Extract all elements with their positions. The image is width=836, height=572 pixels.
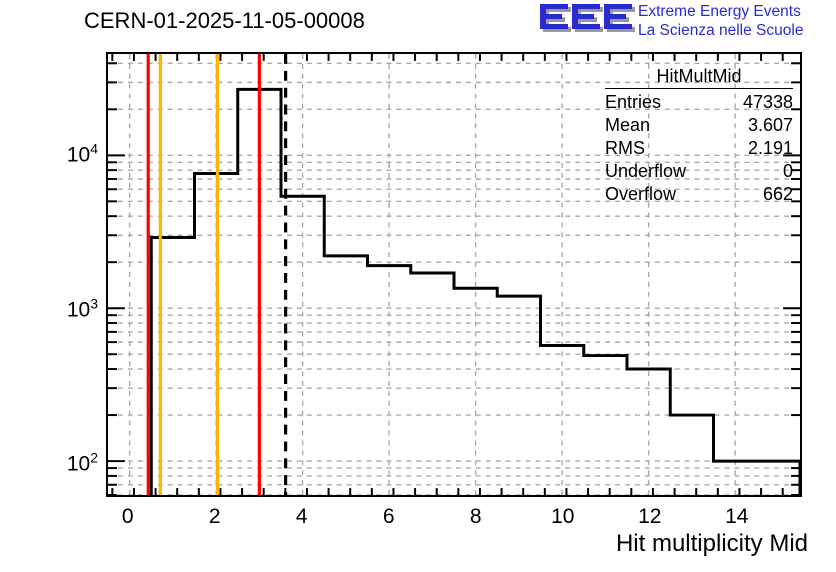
- eee-logo-line1: Extreme Energy Events: [638, 2, 834, 21]
- eee-logo-mark: [538, 3, 638, 37]
- stats-row-key: Underflow: [605, 160, 686, 183]
- stats-box: HitMultMid Entries47338Mean3.607RMS2.191…: [601, 66, 797, 206]
- eee-logo-line2: La Scienza nelle Scuole: [638, 21, 834, 40]
- stats-box-rows: Entries47338Mean3.607RMS2.191Underflow0O…: [601, 91, 797, 206]
- stats-row-value: 0: [783, 160, 793, 183]
- stats-row-value: 2.191: [748, 137, 793, 160]
- y-tick-label: 103: [67, 295, 98, 322]
- stats-row-value: 3.607: [748, 114, 793, 137]
- stats-row: Underflow0: [601, 160, 797, 183]
- stats-box-title: HitMultMid: [605, 66, 793, 89]
- y-tick-label: 102: [67, 449, 98, 476]
- stats-row-key: RMS: [605, 137, 645, 160]
- x-axis-title: Hit multiplicity Mid: [616, 530, 808, 558]
- stats-row: RMS2.191: [601, 137, 797, 160]
- x-tick-label: 0: [122, 505, 134, 529]
- x-tick-label: 6: [383, 505, 395, 529]
- stats-row-value: 47338: [743, 91, 793, 114]
- y-axis-labels: 102103104: [0, 0, 98, 572]
- stats-row-key: Entries: [605, 91, 661, 114]
- stats-row-key: Mean: [605, 114, 650, 137]
- page-title: CERN-01-2025-11-05-00008: [84, 8, 365, 34]
- stats-row-value: 662: [763, 183, 793, 206]
- stats-row: Overflow662: [601, 183, 797, 206]
- eee-logo: Extreme Energy Events La Scienza nelle S…: [538, 2, 834, 42]
- x-tick-label: 10: [551, 505, 574, 529]
- x-tick-label: 12: [638, 505, 661, 529]
- stats-row: Mean3.607: [601, 114, 797, 137]
- stats-row: Entries47338: [601, 91, 797, 114]
- eee-logo-text: Extreme Energy Events La Scienza nelle S…: [638, 2, 834, 42]
- y-tick-label: 104: [67, 141, 98, 168]
- x-tick-label: 8: [470, 505, 482, 529]
- x-tick-label: 2: [209, 505, 221, 529]
- x-tick-label: 4: [296, 505, 308, 529]
- root-canvas: CERN-01-2025-11-05-00008: [0, 0, 836, 572]
- x-tick-label: 14: [725, 505, 748, 529]
- stats-row-key: Overflow: [605, 183, 676, 206]
